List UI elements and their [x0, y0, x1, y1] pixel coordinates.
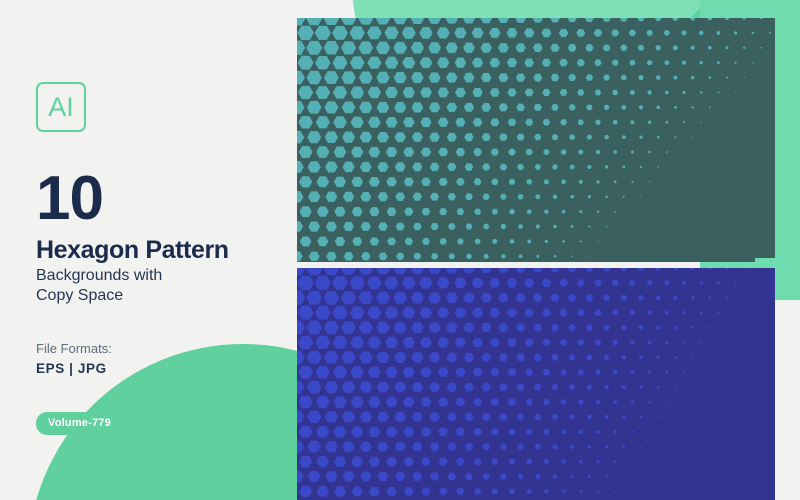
page-title: Hexagon Pattern [36, 237, 286, 263]
teal-hexagon-preview[interactable] [297, 18, 775, 262]
info-column: AI 10 Hexagon Pattern Backgrounds with C… [36, 82, 286, 435]
page-subtitle: Backgrounds with Copy Space [36, 266, 286, 305]
page-subtitle-line-2: Copy Space [36, 286, 286, 306]
file-formats-value: EPS | JPG [36, 359, 286, 379]
item-count: 10 [36, 170, 286, 229]
ai-format-badge: AI [36, 82, 86, 132]
page-subtitle-line-1: Backgrounds with [36, 266, 286, 286]
blue-hexagon-preview[interactable] [297, 268, 775, 500]
volume-badge: Volume-779 [36, 412, 123, 435]
file-formats-label: File Formats: [36, 339, 286, 359]
file-formats-block: File Formats: EPS | JPG [36, 339, 286, 379]
poster-canvas: AI 10 Hexagon Pattern Backgrounds with C… [0, 0, 800, 500]
teal-hexagon-pattern [297, 18, 775, 262]
blue-hexagon-pattern [297, 268, 775, 500]
ai-badge-label: AI [48, 94, 74, 121]
